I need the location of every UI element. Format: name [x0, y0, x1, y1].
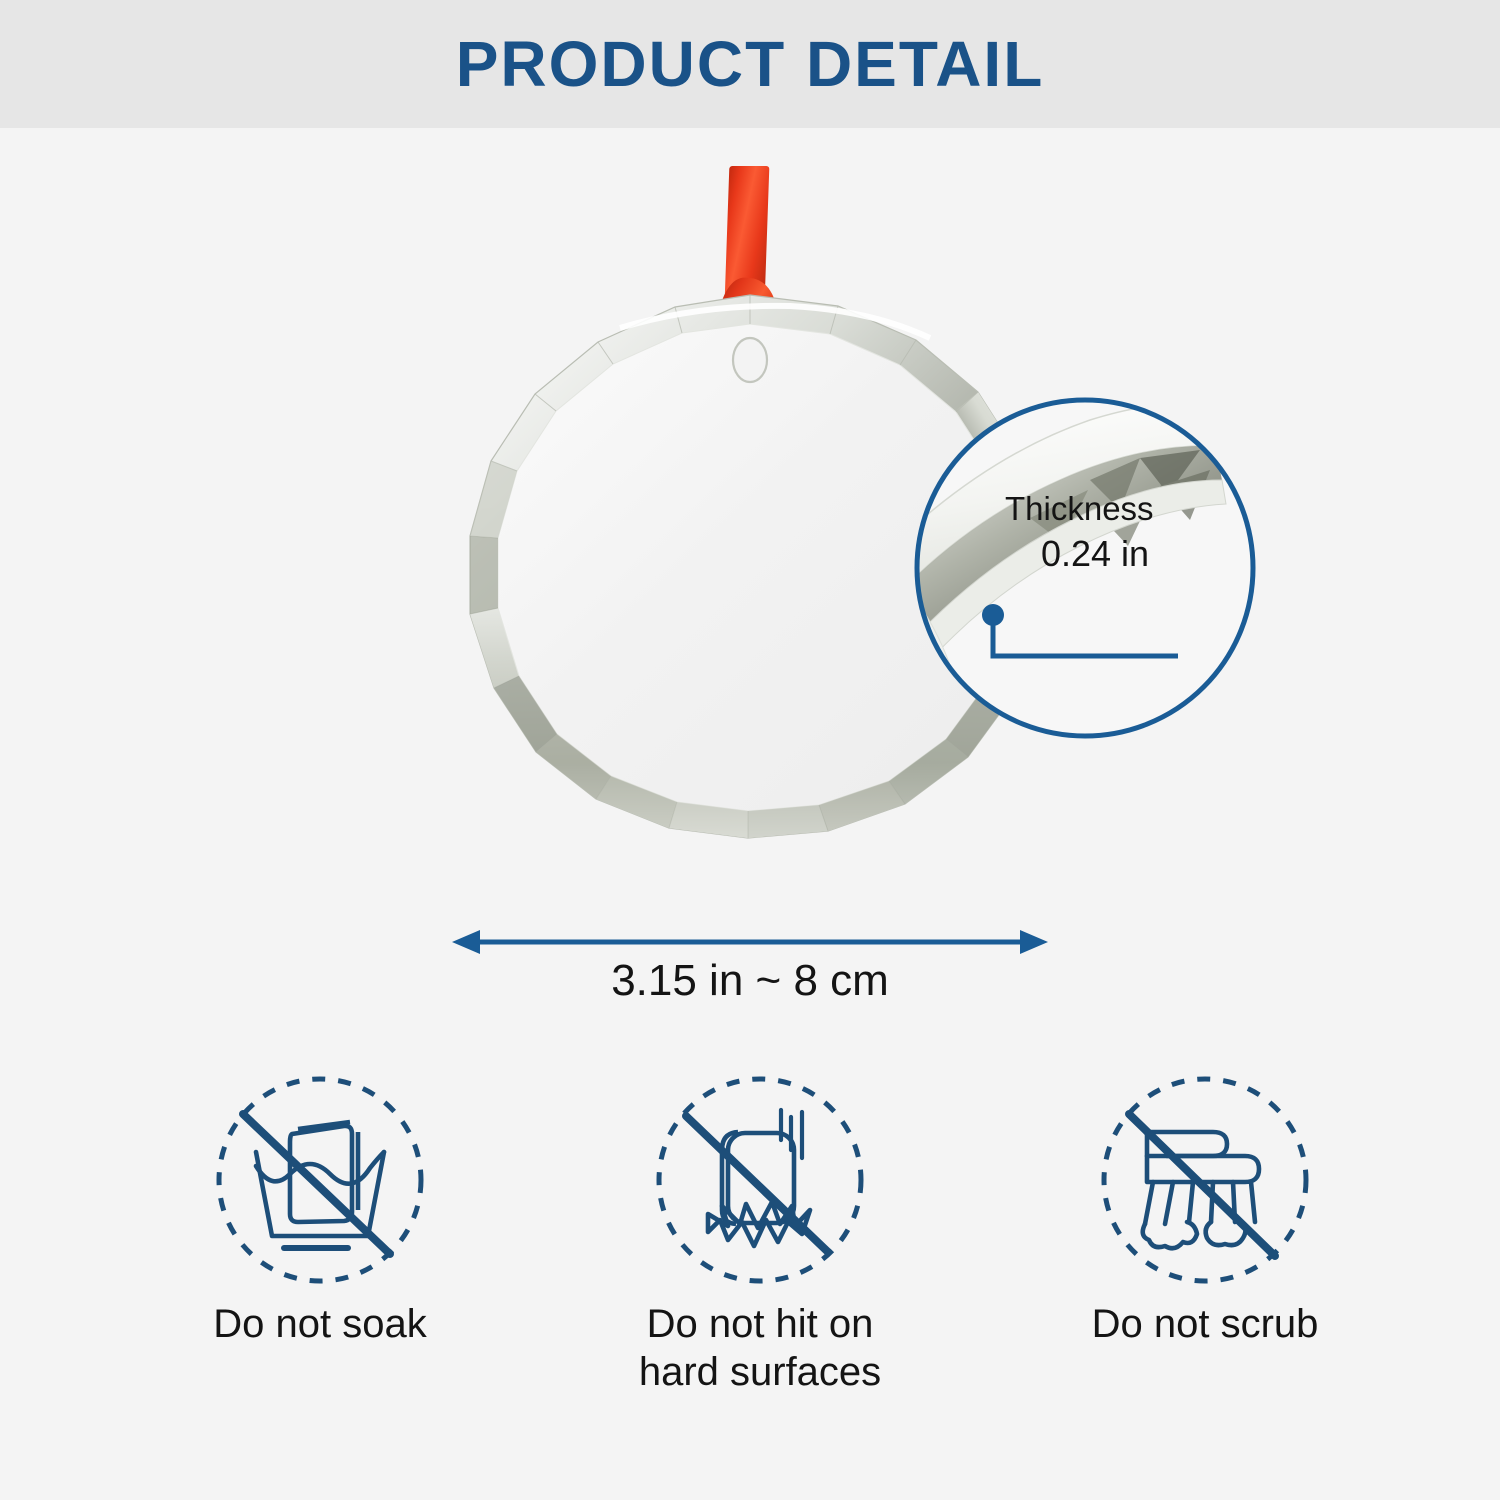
care-caption-no-scrub: Do not scrub [995, 1300, 1415, 1348]
no-impact-icon [650, 1070, 870, 1290]
width-dimension-arrow [452, 930, 1048, 954]
prohibition-slash [243, 1114, 390, 1254]
thickness-value: 0.24 in [1005, 533, 1185, 575]
no-scrub-icon [1095, 1070, 1315, 1290]
care-caption-line-1: Do not hit on [647, 1302, 874, 1346]
care-item-no-soak: Do not soak [110, 1060, 510, 1460]
page-title: PRODUCT DETAIL [0, 22, 1500, 106]
care-item-no-scrub: Do not scrub [995, 1060, 1395, 1460]
care-instructions-row: Do not soak [0, 1060, 1500, 1460]
care-caption-no-impact: Do not hit on hard surfaces [550, 1300, 970, 1396]
care-item-no-impact: Do not hit on hard surfaces [550, 1060, 950, 1460]
arrow-head-right [1020, 930, 1048, 954]
care-caption-line-2: hard surfaces [639, 1350, 881, 1394]
thickness-label: Thickness [1005, 490, 1154, 528]
ornament-hole [733, 338, 767, 382]
dimension-label: 3.15 in ~ 8 cm [450, 956, 1050, 1006]
product-illustration [0, 128, 1500, 1058]
product-stage: 3.15 in ~ 8 cm Thickness 0.24 in [0, 128, 1500, 1058]
no-soak-icon [210, 1070, 430, 1290]
arrow-head-left [452, 930, 480, 954]
care-caption-no-soak: Do not soak [110, 1300, 530, 1348]
